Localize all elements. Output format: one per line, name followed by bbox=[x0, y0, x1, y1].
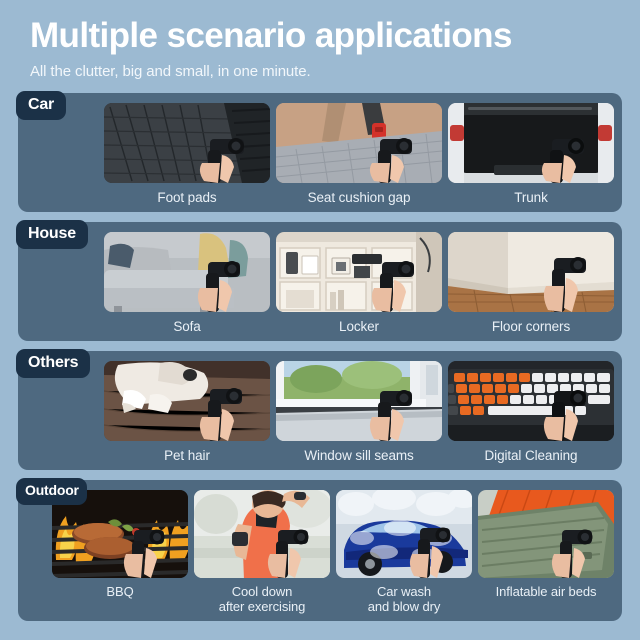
scenario-card[interactable]: Floor corners bbox=[448, 232, 614, 335]
card-label: Sofa bbox=[104, 319, 270, 335]
card-label: Window sill seams bbox=[276, 448, 442, 464]
scenario-rows: Car bbox=[0, 93, 640, 620]
car-trunk-photo bbox=[448, 103, 614, 183]
scenario-row-car: Car bbox=[18, 93, 622, 212]
row-badge-car: Car bbox=[16, 91, 66, 120]
scenario-card[interactable]: Sofa bbox=[104, 232, 270, 335]
scenario-card[interactable]: Window sill seams bbox=[276, 361, 442, 464]
card-list-outdoor: BBQ bbox=[26, 490, 614, 615]
card-list-house: Sofa bbox=[26, 232, 614, 335]
car-floor-mat-photo bbox=[104, 103, 270, 183]
page-subtitle: All the clutter, big and small, in one m… bbox=[30, 63, 640, 80]
scenario-card[interactable]: Seat cushion gap bbox=[276, 103, 442, 206]
dog-on-couch-photo bbox=[104, 361, 270, 441]
car-seat-cushion-photo bbox=[276, 103, 442, 183]
window-sill-photo bbox=[276, 361, 442, 441]
scenario-card[interactable]: Locker bbox=[276, 232, 442, 335]
living-room-sofa-photo bbox=[104, 232, 270, 312]
scenario-card[interactable]: Foot pads bbox=[104, 103, 270, 206]
scenario-card[interactable]: Pet hair bbox=[104, 361, 270, 464]
card-label: Trunk bbox=[448, 190, 614, 206]
card-label: Inflatable air beds bbox=[478, 584, 614, 599]
inflatable-air-bed-photo bbox=[478, 490, 614, 578]
scenario-row-others: Others bbox=[18, 351, 622, 470]
card-label: Pet hair bbox=[104, 448, 270, 464]
car-wash-photo bbox=[336, 490, 472, 578]
card-label: Cool down after exercising bbox=[194, 584, 330, 615]
card-list-others: Pet hair bbox=[26, 361, 614, 464]
card-label: Foot pads bbox=[104, 190, 270, 206]
scenario-card[interactable]: BBQ bbox=[52, 490, 188, 615]
row-badge-house: House bbox=[16, 220, 88, 249]
card-label: Floor corners bbox=[448, 319, 614, 335]
page-header: Multiple scenario applications All the c… bbox=[0, 0, 640, 80]
floor-corner-photo bbox=[448, 232, 614, 312]
card-label: Car wash and blow dry bbox=[336, 584, 472, 615]
card-label: BBQ bbox=[52, 584, 188, 599]
scenario-row-outdoor: Outdoor bbox=[18, 480, 622, 621]
row-badge-others: Others bbox=[16, 349, 90, 378]
shelf-locker-photo bbox=[276, 232, 442, 312]
scenario-card[interactable]: Cool down after exercising bbox=[194, 490, 330, 615]
woman-exercising-photo bbox=[194, 490, 330, 578]
page-title: Multiple scenario applications bbox=[30, 16, 640, 56]
scenario-row-house: House bbox=[18, 222, 622, 341]
mechanical-keyboard-photo bbox=[448, 361, 614, 441]
card-list-car: Foot pads bbox=[26, 103, 614, 206]
scenario-card[interactable]: Car wash and blow dry bbox=[336, 490, 472, 615]
scenario-card[interactable]: Trunk bbox=[448, 103, 614, 206]
scenario-card[interactable]: Inflatable air beds bbox=[478, 490, 614, 615]
row-badge-outdoor: Outdoor bbox=[16, 478, 87, 505]
scenario-card[interactable]: Digital Cleaning bbox=[448, 361, 614, 464]
card-label: Seat cushion gap bbox=[276, 190, 442, 206]
card-label: Locker bbox=[276, 319, 442, 335]
card-label: Digital Cleaning bbox=[448, 448, 614, 464]
